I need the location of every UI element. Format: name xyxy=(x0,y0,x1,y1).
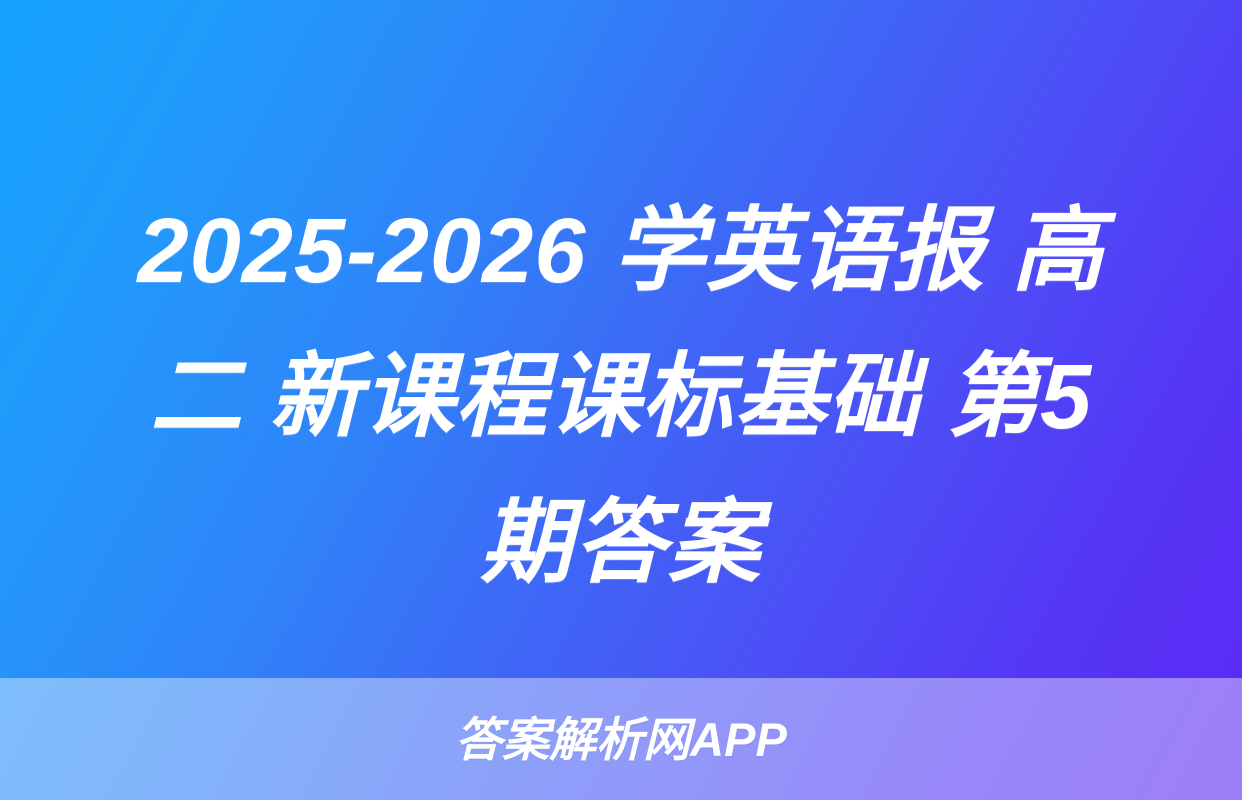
app-brand-label: 答案解析网APP xyxy=(455,716,787,763)
title-line-1: 2025-2026 学英语报 高 xyxy=(62,178,1180,324)
title-line-3: 期答案 xyxy=(62,470,1180,616)
footer-brand-band: 答案解析网APP xyxy=(0,678,1242,800)
title-line-2: 二 新课程课标基础 第5 xyxy=(62,324,1180,470)
answer-key-cover-card: 2025-2026 学英语报 高 二 新课程课标基础 第5 期答案 答案解析网A… xyxy=(0,0,1242,800)
page-title: 2025-2026 学英语报 高 二 新课程课标基础 第5 期答案 xyxy=(0,178,1242,616)
